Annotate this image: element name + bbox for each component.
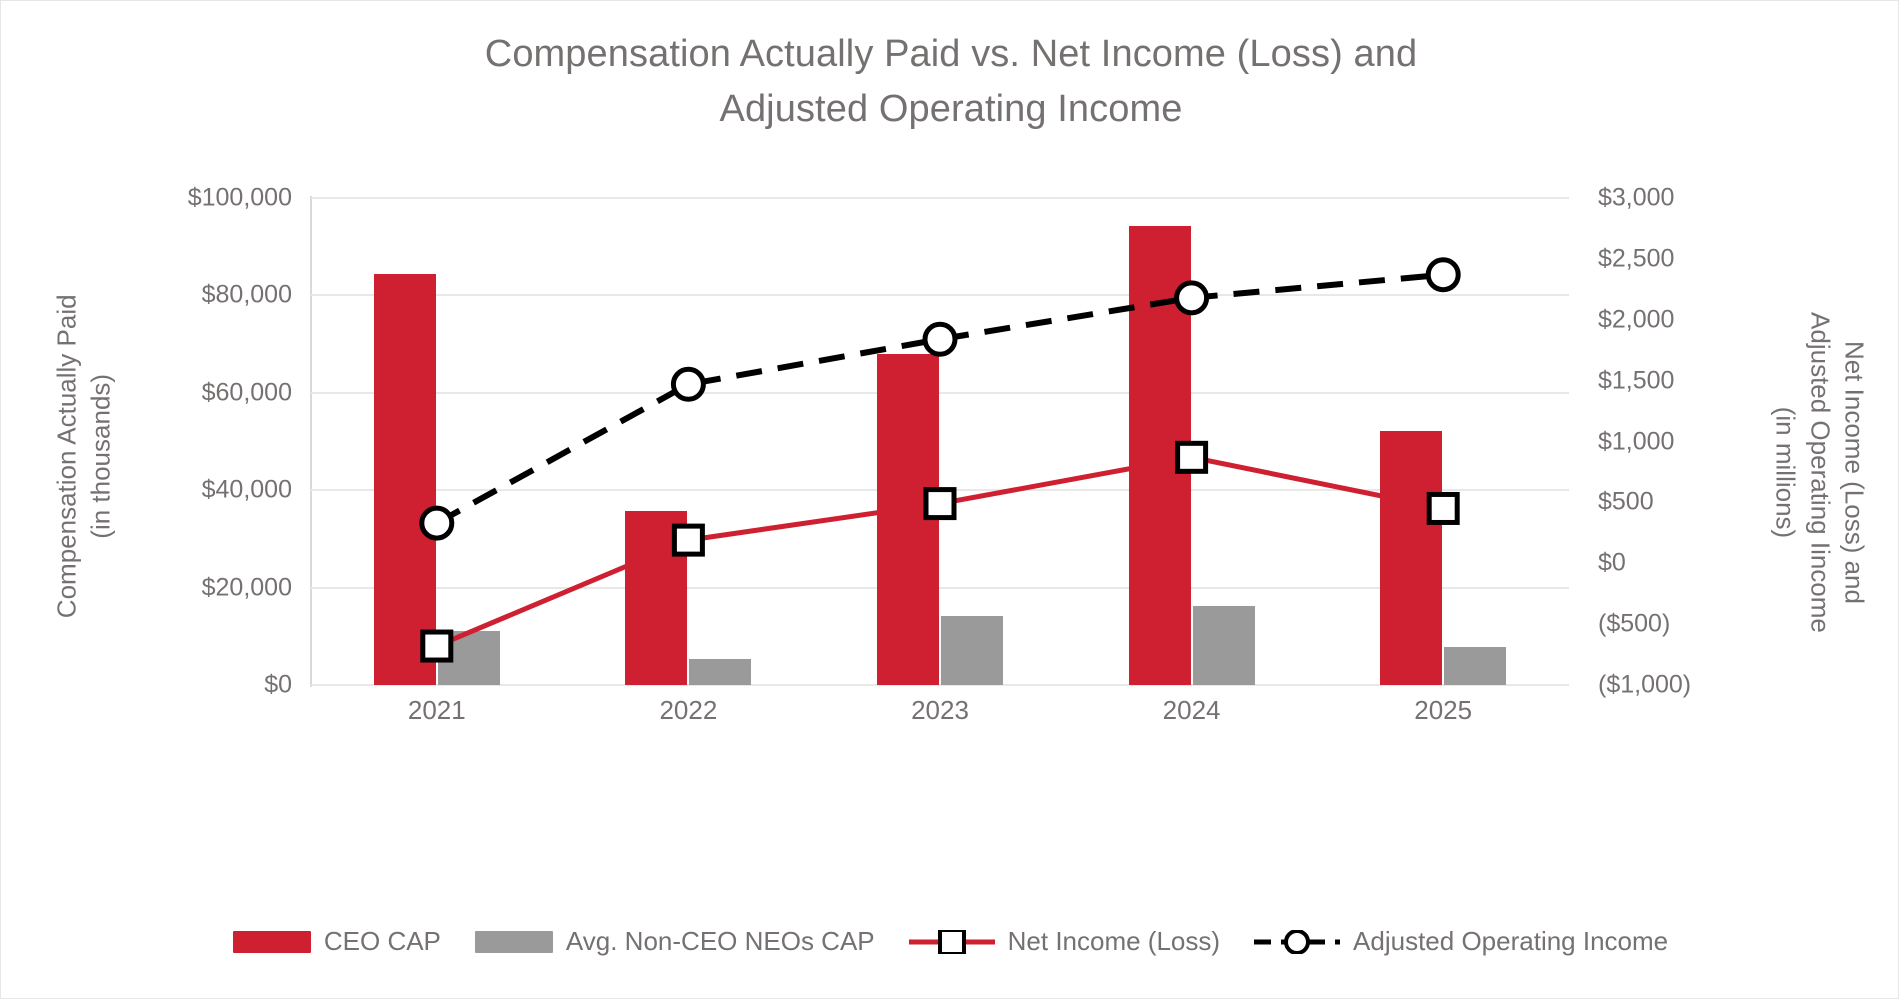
y-axis-right-tick-label: $2,000 [1598,305,1798,334]
y-axis-left-tick-label: $80,000 [112,281,292,310]
marker-adjusted-operating-income-circle [673,369,703,399]
y-axis-right-tick-label: $0 [1598,549,1798,578]
bar-ceo-cap [1129,226,1191,685]
y-axis-right-tick-label: $500 [1598,488,1798,517]
legend-swatch-red-bar-icon [233,931,311,953]
bar-avg-non-ceo-neos-cap [941,616,1003,685]
y-axis-left-tick-label: $100,000 [112,184,292,213]
legend-item-label: Net Income (Loss) [1008,926,1220,957]
bar-ceo-cap [625,511,687,685]
bar-ceo-cap [1380,431,1442,685]
legend-item-net-income[interactable]: Net Income (Loss) [909,926,1220,957]
y-axis-right-tick-label: ($1,000) [1598,671,1798,700]
marker-adjusted-operating-income-circle [925,324,955,354]
bar-ceo-cap [374,274,436,685]
y-axis-right-tick-label: $2,500 [1598,244,1798,273]
x-axis-tick-label: 2023 [814,695,1066,726]
plot-area [311,198,1569,685]
legend-item-label: Adjusted Operating Income [1353,926,1668,957]
y-axis-left-title: Compensation Actually Paid (in thousands… [50,236,119,676]
gridline [311,294,1569,296]
x-axis-tick-label: 2022 [562,695,814,726]
line-adjusted-operating-income [437,275,1443,523]
y-axis-left-tick-label: $60,000 [112,378,292,407]
line-net-income [437,457,1443,646]
bar-ceo-cap [877,354,939,685]
bar-avg-non-ceo-neos-cap [689,659,751,685]
legend-item-label: CEO CAP [324,926,441,957]
bar-avg-non-ceo-neos-cap [1193,606,1255,685]
marker-adjusted-operating-income-circle [1428,260,1458,290]
y-axis-right-tick-label: $1,000 [1598,427,1798,456]
legend-swatch-gray-bar-icon [475,931,553,953]
y-axis-right-tick-label: ($500) [1598,610,1798,639]
legend-line-square-marker-icon [909,930,995,954]
chart-container: Compensation Actually Paid vs. Net Incom… [0,0,1899,999]
legend-item-avg-non-ceo-neos-cap[interactable]: Avg. Non-CEO NEOs CAP [475,926,875,957]
bar-avg-non-ceo-neos-cap [1444,647,1506,685]
gridline [311,197,1569,199]
x-axis-tick-label: 2021 [311,695,563,726]
chart-legend: CEO CAPAvg. Non-CEO NEOs CAPNet Income (… [1,926,1899,957]
y-axis-right-tick-label: $3,000 [1598,184,1798,213]
y-axis-left-tick-label: $40,000 [112,476,292,505]
y-axis-left-tick-label: $0 [112,671,292,700]
chart-title: Compensation Actually Paid vs. Net Incom… [301,27,1601,137]
legend-item-adjusted-operating-income[interactable]: Adjusted Operating Income [1254,926,1668,957]
legend-dashed-line-circle-marker-icon [1254,930,1340,954]
y-axis-left-tick-label: $20,000 [112,573,292,602]
y-axis-right-tick-label: $1,500 [1598,366,1798,395]
x-axis-tick-label: 2025 [1317,695,1569,726]
legend-item-ceo-cap[interactable]: CEO CAP [233,926,441,957]
x-axis-tick-label: 2024 [1066,695,1318,726]
legend-item-label: Avg. Non-CEO NEOs CAP [566,926,875,957]
gridline [311,392,1569,394]
bar-avg-non-ceo-neos-cap [438,631,500,685]
